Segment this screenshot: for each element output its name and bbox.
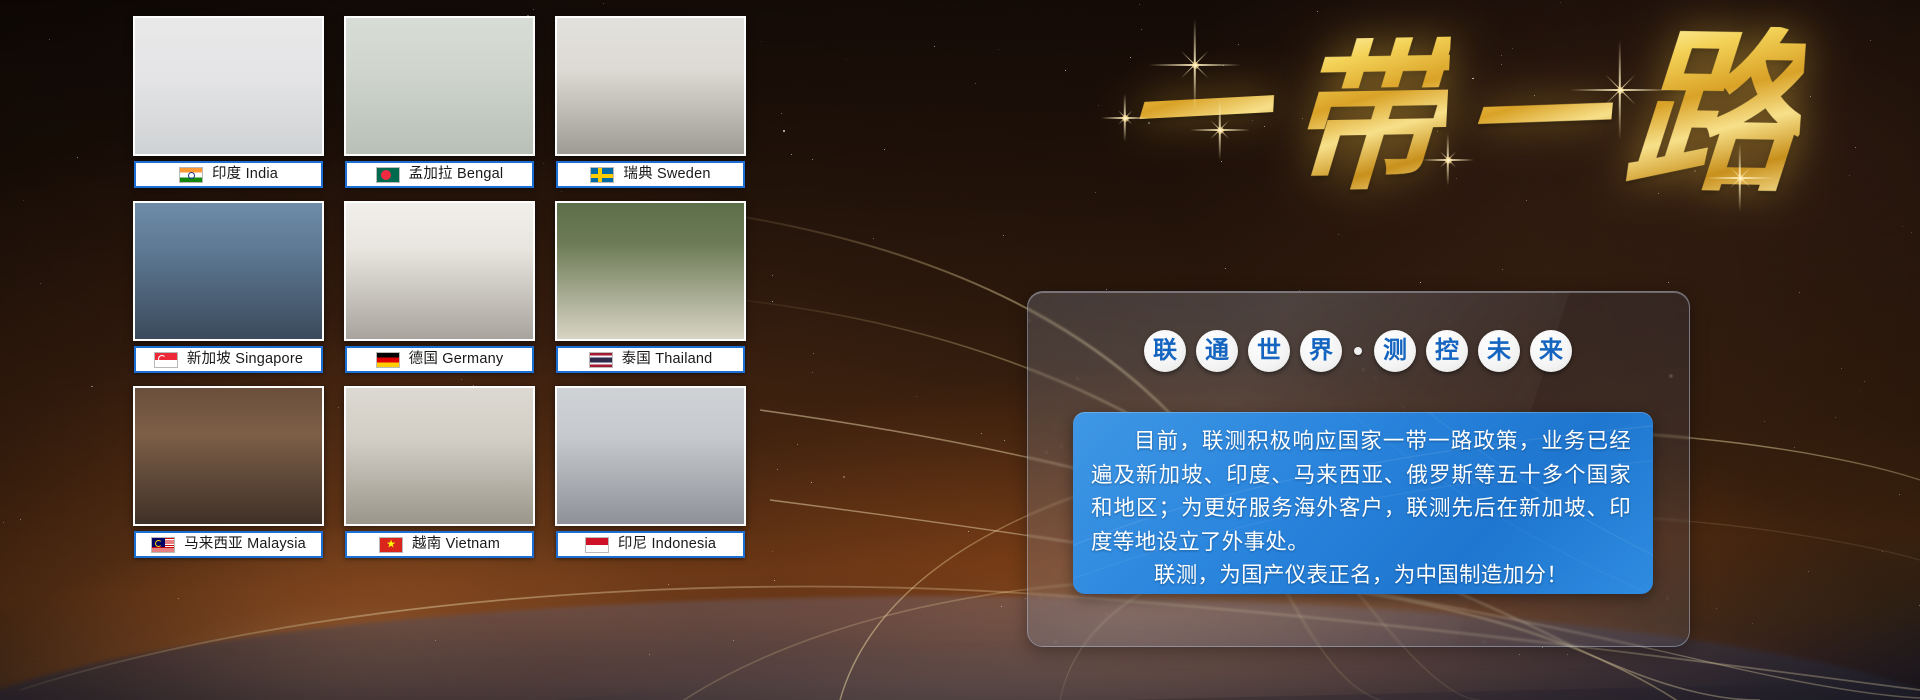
- slogan-char-9: 来: [1530, 330, 1572, 372]
- country-label-text: 瑞典 Sweden: [623, 167, 710, 182]
- country-label-text: 德国 Germany: [409, 352, 504, 367]
- country-label-text: 印尼 Indonesia: [618, 537, 716, 552]
- country-label-malaysia: 马来西亚 Malaysia: [134, 531, 323, 558]
- country-photo-vietnam: [344, 386, 535, 526]
- country-label-india: 印度 India: [134, 161, 323, 188]
- country-card-indonesia[interactable]: 印尼 Indonesia: [555, 386, 746, 564]
- country-photo-thailand: [555, 201, 746, 341]
- photo-image: [135, 18, 322, 154]
- country-card-bengal[interactable]: 孟加拉 Bengal: [344, 16, 535, 194]
- title-char-4: 路: [1619, 24, 1806, 202]
- photo-image: [346, 203, 533, 339]
- country-card-india[interactable]: 印度 India: [133, 16, 324, 194]
- country-photo-singapore: [133, 201, 324, 341]
- flag-vietnam-icon: [379, 537, 403, 553]
- flag-singapore-icon: [154, 352, 178, 368]
- country-label-thailand: 泰国 Thailand: [556, 346, 745, 373]
- photo-image: [557, 203, 744, 339]
- country-card-sweden[interactable]: 瑞典 Sweden: [555, 16, 746, 194]
- flag-india-icon: [179, 167, 203, 183]
- country-label-bengal: 孟加拉 Bengal: [345, 161, 534, 188]
- title-char-3: 一: [1454, 42, 1618, 197]
- photo-image: [557, 18, 744, 154]
- country-label-indonesia: 印尼 Indonesia: [556, 531, 745, 558]
- description-paragraph-1: 目前，联测积极响应国家一带一路政策，业务已经遍及新加坡、印度、马来西亚、俄罗斯等…: [1091, 425, 1631, 559]
- description-box: 目前，联测积极响应国家一带一路政策，业务已经遍及新加坡、印度、马来西亚、俄罗斯等…: [1073, 412, 1653, 594]
- slogan-char-4: 界: [1300, 330, 1342, 372]
- country-label-germany: 德国 Germany: [345, 346, 534, 373]
- flag-thailand-icon: [589, 352, 613, 368]
- flag-germany-icon: [376, 352, 400, 368]
- country-label-text: 孟加拉 Bengal: [409, 167, 504, 182]
- photo-image: [346, 388, 533, 524]
- country-label-singapore: 新加坡 Singapore: [134, 346, 323, 373]
- flag-sweden-icon: [590, 167, 614, 183]
- slogan-char-2: 通: [1196, 330, 1238, 372]
- slogan-separator-dot: [1354, 347, 1362, 355]
- photo-image: [135, 388, 322, 524]
- country-photo-grid: 印度 India孟加拉 Bengal瑞典 Sweden新加坡 Singapore…: [133, 16, 758, 572]
- title-char-1: 一: [1119, 35, 1278, 193]
- country-card-singapore[interactable]: 新加坡 Singapore: [133, 201, 324, 379]
- country-card-germany[interactable]: 德国 Germany: [344, 201, 535, 379]
- photo-image: [557, 388, 744, 524]
- slogan-char-8: 未: [1478, 330, 1520, 372]
- flag-malaysia-icon: [151, 537, 175, 553]
- slogan-char-6: 测: [1374, 330, 1416, 372]
- country-photo-bengal: [344, 16, 535, 156]
- country-card-vietnam[interactable]: 越南 Vietnam: [344, 386, 535, 564]
- country-photo-malaysia: [133, 386, 324, 526]
- belt-and-road-title: 一带一路: [1032, 6, 1892, 221]
- flag-indonesia-icon: [585, 537, 609, 553]
- country-label-text: 越南 Vietnam: [412, 537, 500, 552]
- slogan-char-3: 世: [1248, 330, 1290, 372]
- flag-bangladesh-icon: [376, 167, 400, 183]
- country-photo-india: [133, 16, 324, 156]
- company-slogan: 联通世界测控未来: [1144, 330, 1572, 372]
- title-char-2: 带: [1283, 36, 1452, 199]
- slogan-char-7: 控: [1426, 330, 1468, 372]
- country-label-text: 新加坡 Singapore: [187, 352, 303, 367]
- country-photo-germany: [344, 201, 535, 341]
- country-label-text: 马来西亚 Malaysia: [184, 537, 306, 552]
- country-label-sweden: 瑞典 Sweden: [556, 161, 745, 188]
- country-photo-indonesia: [555, 386, 746, 526]
- country-label-text: 印度 India: [212, 167, 278, 182]
- photo-image: [346, 18, 533, 154]
- country-card-thailand[interactable]: 泰国 Thailand: [555, 201, 746, 379]
- country-photo-sweden: [555, 16, 746, 156]
- country-card-malaysia[interactable]: 马来西亚 Malaysia: [133, 386, 324, 564]
- description-paragraph-2: 联测，为国产仪表正名，为中国制造加分！: [1091, 559, 1631, 593]
- photo-image: [135, 203, 322, 339]
- country-label-text: 泰国 Thailand: [622, 352, 713, 367]
- slogan-char-1: 联: [1144, 330, 1186, 372]
- country-label-vietnam: 越南 Vietnam: [345, 531, 534, 558]
